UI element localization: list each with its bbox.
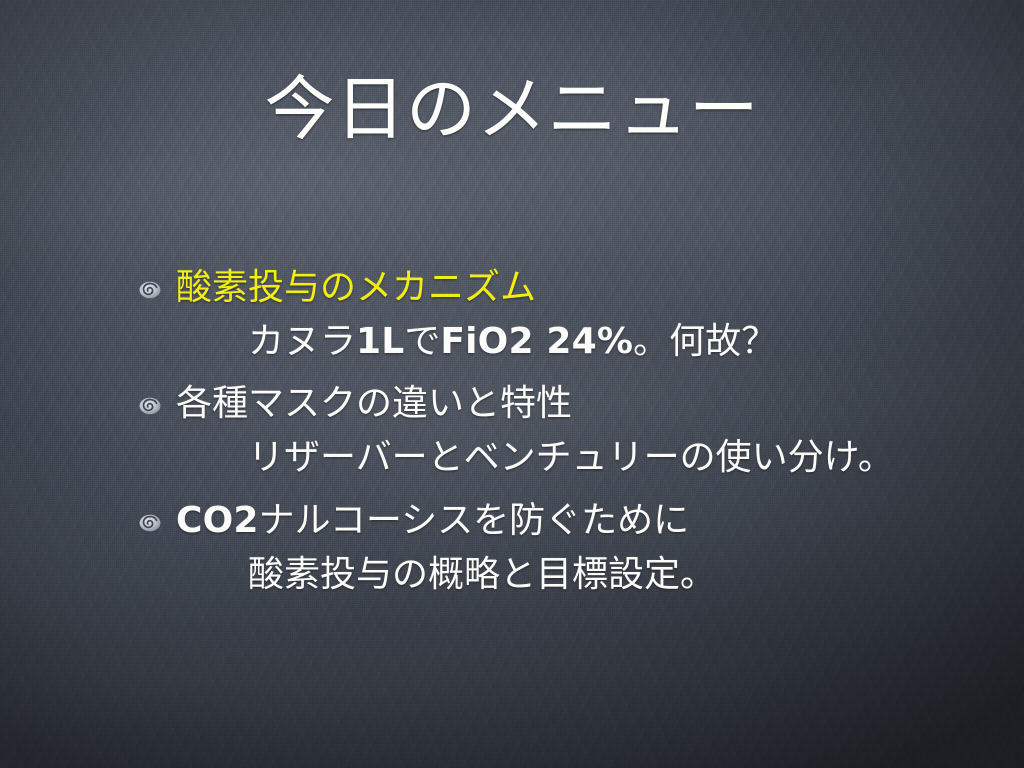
sub-latin-1: 1L bbox=[356, 321, 404, 362]
bullet-subtext-1: カヌラ1LでFiO2 24%。何故？ bbox=[248, 321, 777, 362]
heading-latin-3: CO2 bbox=[176, 500, 259, 541]
bullet-heading-3: CO2ナルコーシスを防ぐために bbox=[176, 501, 689, 541]
bullet-group-1: 酸素投与のメカニズム カヌラ1LでFiO2 24%。何故？ bbox=[0, 268, 1024, 362]
bullet-item-2: 各種マスクの違いと特性 bbox=[0, 384, 1024, 428]
sub-suffix-1: 。何故？ bbox=[633, 321, 777, 362]
sub-row-1: カヌラ1LでFiO2 24%。何故？ bbox=[0, 322, 1024, 362]
bullet-subtext-2: リザーバーとベンチュリーの使い分け。 bbox=[248, 437, 894, 478]
bullet-heading-2: 各種マスクの違いと特性 bbox=[176, 384, 572, 424]
sub-middle-1: で bbox=[404, 321, 440, 362]
bullet-heading-1: 酸素投与のメカニズム bbox=[176, 268, 536, 308]
sub-row-2: リザーバーとベンチュリーの使い分け。 bbox=[0, 438, 1024, 478]
presentation-slide: 今日のメニュー bbox=[0, 0, 1024, 768]
bullet-item-1: 酸素投与のメカニズム bbox=[0, 268, 1024, 312]
heading-rest-3: ナルコーシスを防ぐために bbox=[259, 500, 690, 541]
bullet-group-2: 各種マスクの違いと特性 リザーバーとベンチュリーの使い分け。 bbox=[0, 384, 1024, 478]
spiral-swirl-icon bbox=[138, 278, 162, 302]
bullet-item-3: CO2ナルコーシスを防ぐために bbox=[0, 501, 1024, 545]
sub-row-3: 酸素投与の概略と目標設定。 bbox=[0, 555, 1024, 595]
spiral-swirl-icon bbox=[138, 511, 162, 535]
bullet-group-3: CO2ナルコーシスを防ぐために 酸素投与の概略と目標設定。 bbox=[0, 501, 1024, 595]
slide-body: 酸素投与のメカニズム カヌラ1LでFiO2 24%。何故？ bbox=[0, 268, 1024, 595]
spiral-swirl-icon bbox=[138, 394, 162, 418]
slide-title: 今日のメニュー bbox=[0, 72, 1024, 146]
sub-prefix-1: カヌラ bbox=[248, 321, 356, 362]
bullet-subtext-3: 酸素投与の概略と目標設定。 bbox=[248, 554, 716, 595]
sub-latin-2: FiO2 24% bbox=[440, 321, 633, 362]
